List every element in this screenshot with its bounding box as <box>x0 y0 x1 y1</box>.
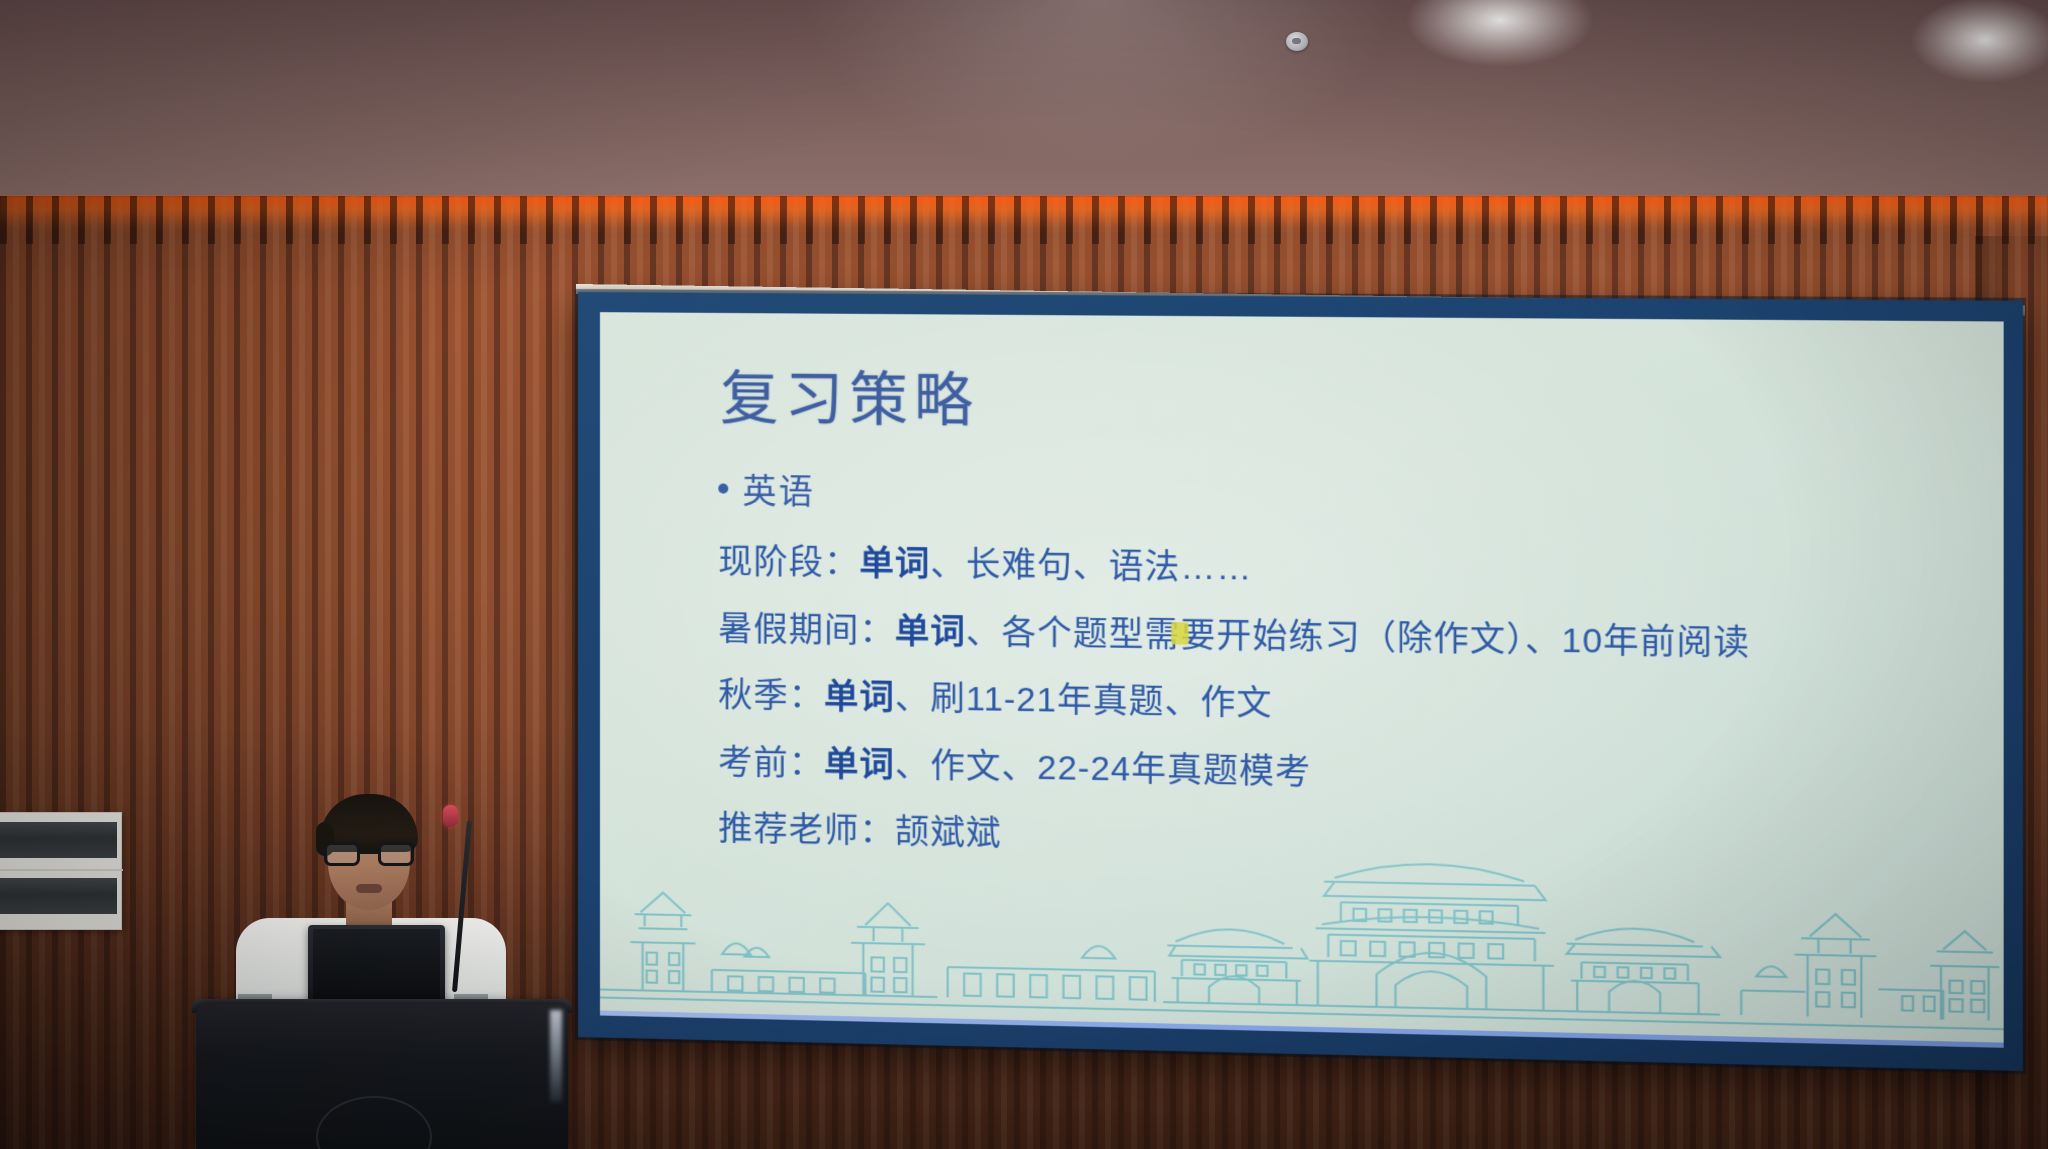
podium-emblem <box>316 1096 432 1149</box>
podium-highlight <box>550 1010 562 1102</box>
slide-body: 英语 现阶段：单词、长难句、语法…… 暑假期间：单词、各个题型需要开始练习（除作… <box>718 463 1961 898</box>
slide-line-1: 现阶段：单词、长难句、语法…… <box>718 541 1961 600</box>
lecture-hall-photo: 复习策略 英语 现阶段：单词、长难句、语法…… 暑假期间：单词、各个题型需要开始… <box>0 0 2048 1149</box>
glasses-icon <box>324 842 414 866</box>
slide-line-1-bold: 单词 <box>859 544 930 583</box>
slide-bullet-label: 英语 <box>742 464 815 514</box>
slide-line-4-prefix: 考前： <box>718 743 824 783</box>
slide-line-3: 秋季：单词、刷11-21年真题、作文 <box>718 674 1961 737</box>
slide-line-2-rest: 、各个题型需要开始练习（除作文）、10年前阅读 <box>966 613 1750 663</box>
slide-line-3-prefix: 秋季： <box>718 676 824 716</box>
slide-line-4-rest: 、作文、22-24年真题模考 <box>895 746 1311 792</box>
presenter-laptop[interactable] <box>308 925 445 1007</box>
slide-line-2-prefix: 暑假期间： <box>718 609 895 650</box>
glasses-lens-left <box>324 842 360 866</box>
lectern <box>196 1004 568 1149</box>
vent-divider <box>0 869 123 871</box>
microphone-head-icon <box>443 805 458 827</box>
vent-grille-top <box>0 822 117 858</box>
slide-line-3-bold: 单词 <box>824 678 895 717</box>
bullet-dot-icon <box>718 483 728 493</box>
vent-grille-bottom <box>0 878 117 914</box>
slide-canvas: 复习策略 英语 现阶段：单词、长难句、语法…… 暑假期间：单词、各个题型需要开始… <box>600 312 2004 1048</box>
slide-line-1-rest: 、长难句、语法…… <box>930 545 1252 587</box>
slide-line-2: 暑假期间：单词、各个题型需要开始练习（除作文）、10年前阅读 <box>718 607 1961 668</box>
smoke-detector-icon <box>1286 32 1308 51</box>
laser-pointer-icon <box>1171 622 1188 645</box>
glasses-bridge <box>360 851 378 854</box>
slide-line-1-prefix: 现阶段： <box>718 543 859 583</box>
air-conditioning-vent <box>0 812 122 930</box>
glasses-lens-right <box>378 842 414 866</box>
slide-line-3-rest: 、刷11-21年真题、作文 <box>895 679 1273 723</box>
slide-line-2-bold: 单词 <box>895 612 966 651</box>
slide-line-4-bold: 单词 <box>824 745 895 784</box>
wall-accent-light-slats <box>0 196 2048 244</box>
slide-title: 复习策略 <box>720 351 979 438</box>
slide-line-5-prefix: 推荐老师： <box>718 810 895 851</box>
presenter-mouth <box>356 884 382 893</box>
laptop-screen <box>313 929 440 1001</box>
slide-line-5-rest: 颉斌斌 <box>895 813 1002 853</box>
projection-screen[interactable]: 复习策略 英语 现阶段：单词、长难句、语法…… 暑假期间：单词、各个题型需要开始… <box>578 292 2023 1071</box>
slide-line-4: 考前：单词、作文、22-24年真题模考 <box>718 741 1961 805</box>
slide-bullet-item: 英语 <box>718 463 1961 526</box>
slide-line-5: 推荐老师：颉斌斌 <box>718 808 1961 874</box>
